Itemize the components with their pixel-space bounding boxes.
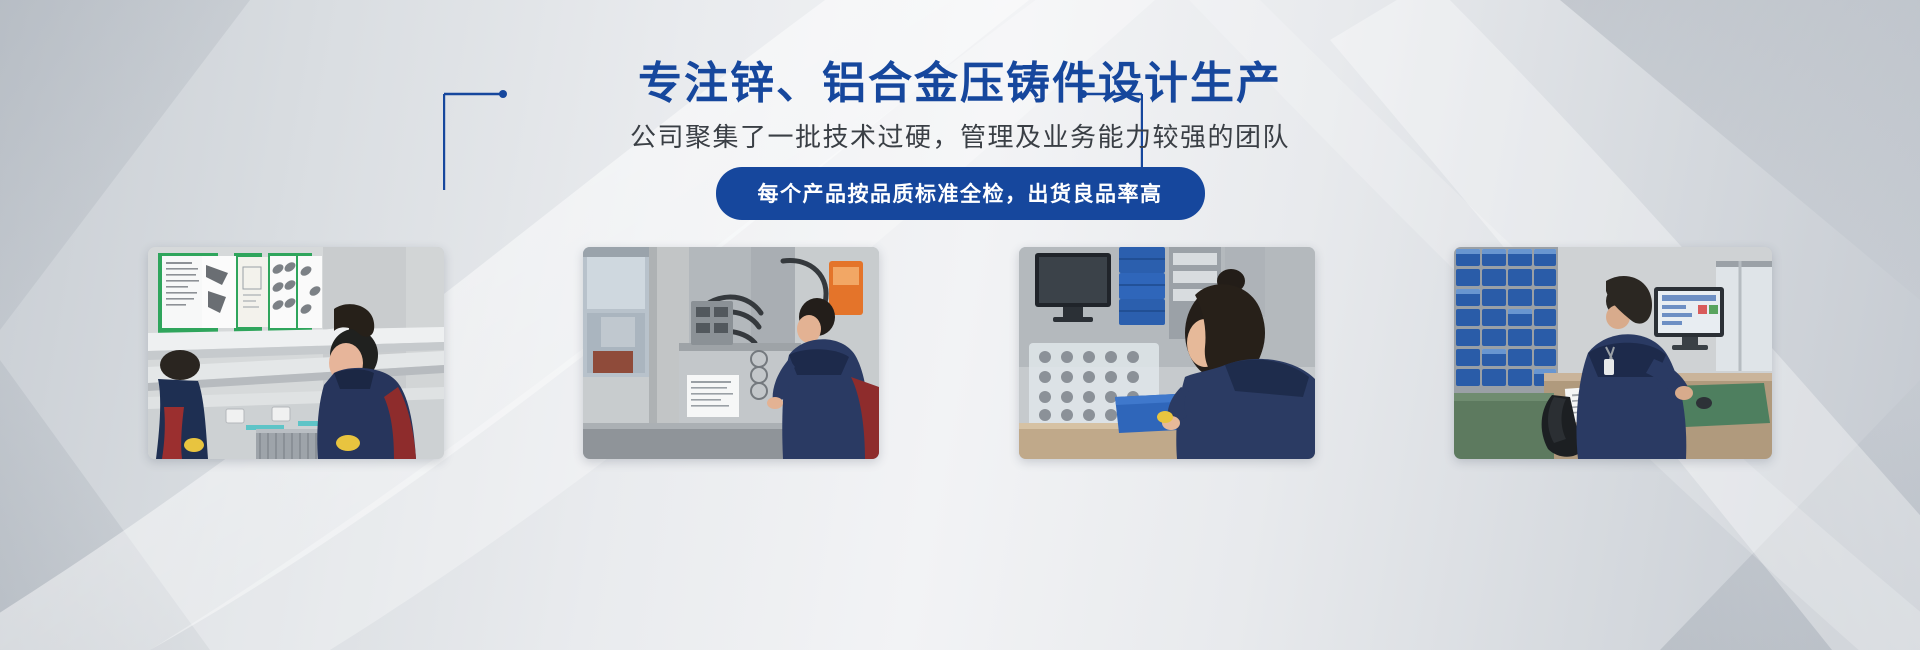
quality-badge: 每个产品按品质标准全检，出货良品率高 — [716, 167, 1205, 220]
title-row: 专注锌、铝合金压铸件设计生产 — [0, 58, 1920, 110]
subtitle-row: 公司聚集了一批技术过硬，管理及业务能力较强的团队 — [0, 117, 1920, 154]
page-subtitle: 公司聚集了一批技术过硬，管理及业务能力较强的团队 — [630, 117, 1290, 154]
banner-text-block: 专注锌、铝合金压铸件设计生产 公司聚集了一批技术过硬，管理及业务能力较强的团队 … — [0, 0, 1920, 240]
photo-strip — [148, 247, 1772, 459]
photo-warehouse-inspection — [148, 247, 444, 459]
pill-row: 每个产品按品质标准全检，出货良品率高 — [0, 167, 1920, 220]
photo-office-workstation — [1454, 247, 1772, 459]
page-title: 专注锌、铝合金压铸件设计生产 — [638, 58, 1282, 110]
photo-machine-operation — [583, 247, 879, 459]
promo-banner: 专注锌、铝合金压铸件设计生产 公司聚集了一批技术过硬，管理及业务能力较强的团队 … — [0, 0, 1920, 650]
photo-packing-station — [1019, 247, 1315, 459]
